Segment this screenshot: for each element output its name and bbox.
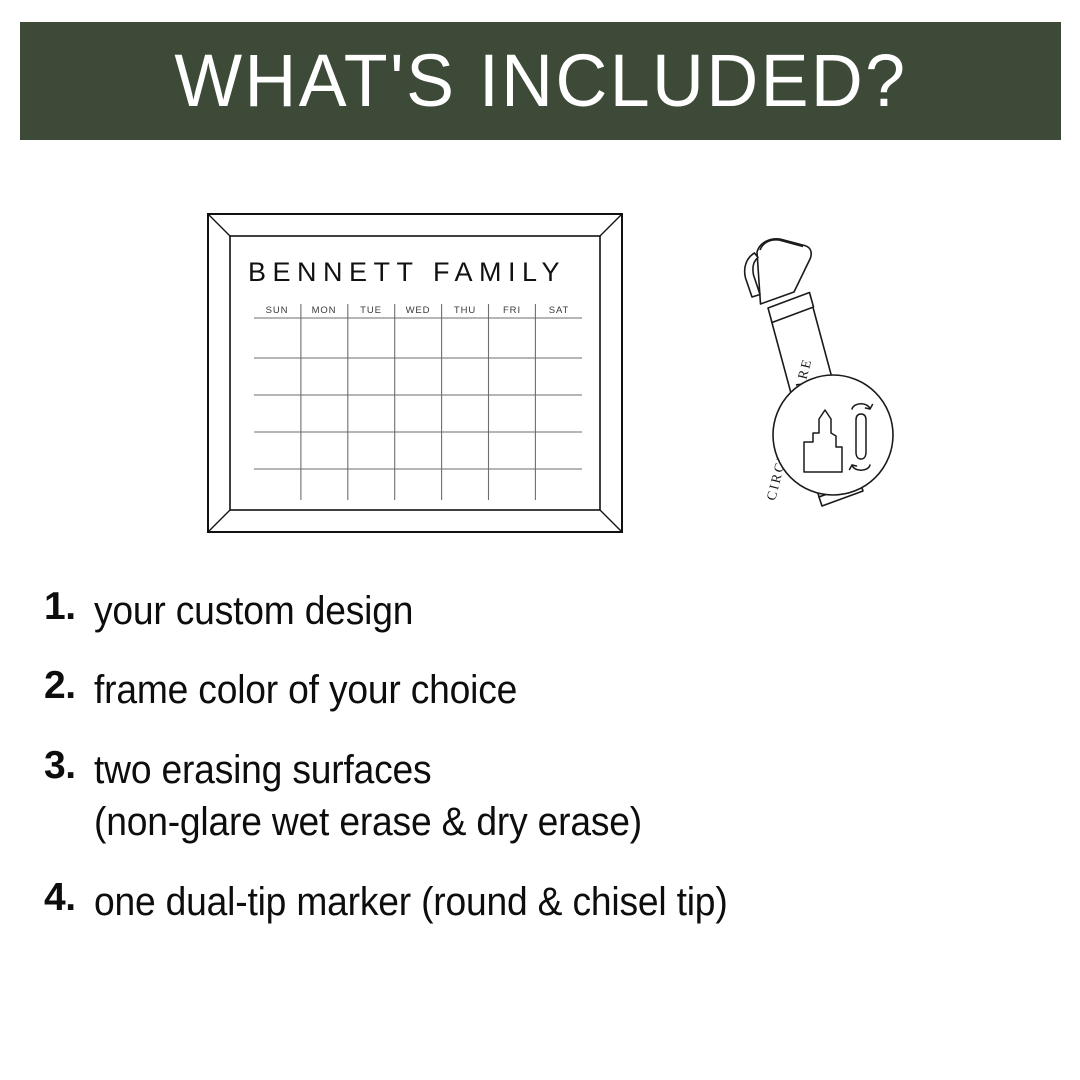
- list-item-number: 3.: [44, 744, 94, 788]
- day-header-sun: SUN: [266, 305, 289, 316]
- list-item-text: frame color of your choice: [94, 664, 1011, 716]
- included-items-list: 1. your custom design 2. frame color of …: [0, 585, 1080, 955]
- list-item-text: one dual-tip marker (round & chisel tip): [94, 876, 1011, 928]
- list-item-line-1: one dual-tip marker (round & chisel tip): [94, 880, 728, 924]
- board-title: BENNETT FAMILY: [248, 257, 566, 287]
- day-header-wed: WED: [406, 305, 431, 316]
- marker-illustration: CIRCLE & SQUARE: [700, 220, 900, 520]
- day-header-tue: TUE: [360, 305, 382, 316]
- list-item-number: 2.: [44, 664, 94, 708]
- day-header-sat: SAT: [549, 305, 569, 316]
- page-title: WHAT'S INCLUDED?: [174, 44, 907, 118]
- list-item-line-1: frame color of your choice: [94, 668, 517, 712]
- day-header-fri: FRI: [503, 305, 521, 316]
- list-item-number: 1.: [44, 585, 94, 629]
- list-item-number: 4.: [44, 876, 94, 920]
- header-banner: WHAT'S INCLUDED?: [20, 22, 1061, 140]
- calendar-whiteboard-illustration: BENNETT FAMILY SUN MON TUE WED THU FRI S…: [206, 212, 624, 534]
- list-item: 2. frame color of your choice: [0, 664, 1080, 716]
- list-item-line-1: your custom design: [94, 589, 413, 633]
- list-item: 4. one dual-tip marker (round & chisel t…: [0, 876, 1080, 928]
- list-item-text: two erasing surfaces (non-glare wet eras…: [94, 744, 1011, 849]
- list-item-line-1: two erasing surfaces: [94, 748, 431, 792]
- day-header-mon: MON: [312, 305, 337, 316]
- day-header-thu: THU: [454, 305, 476, 316]
- round-tip-icon: [856, 414, 866, 459]
- list-item-text: your custom design: [94, 585, 1011, 637]
- list-item-line-2: (non-glare wet erase & dry erase): [94, 796, 1011, 848]
- product-illustration-area: BENNETT FAMILY SUN MON TUE WED THU FRI S…: [0, 170, 1080, 570]
- list-item: 1. your custom design: [0, 585, 1080, 637]
- list-item: 3. two erasing surfaces (non-glare wet e…: [0, 744, 1080, 849]
